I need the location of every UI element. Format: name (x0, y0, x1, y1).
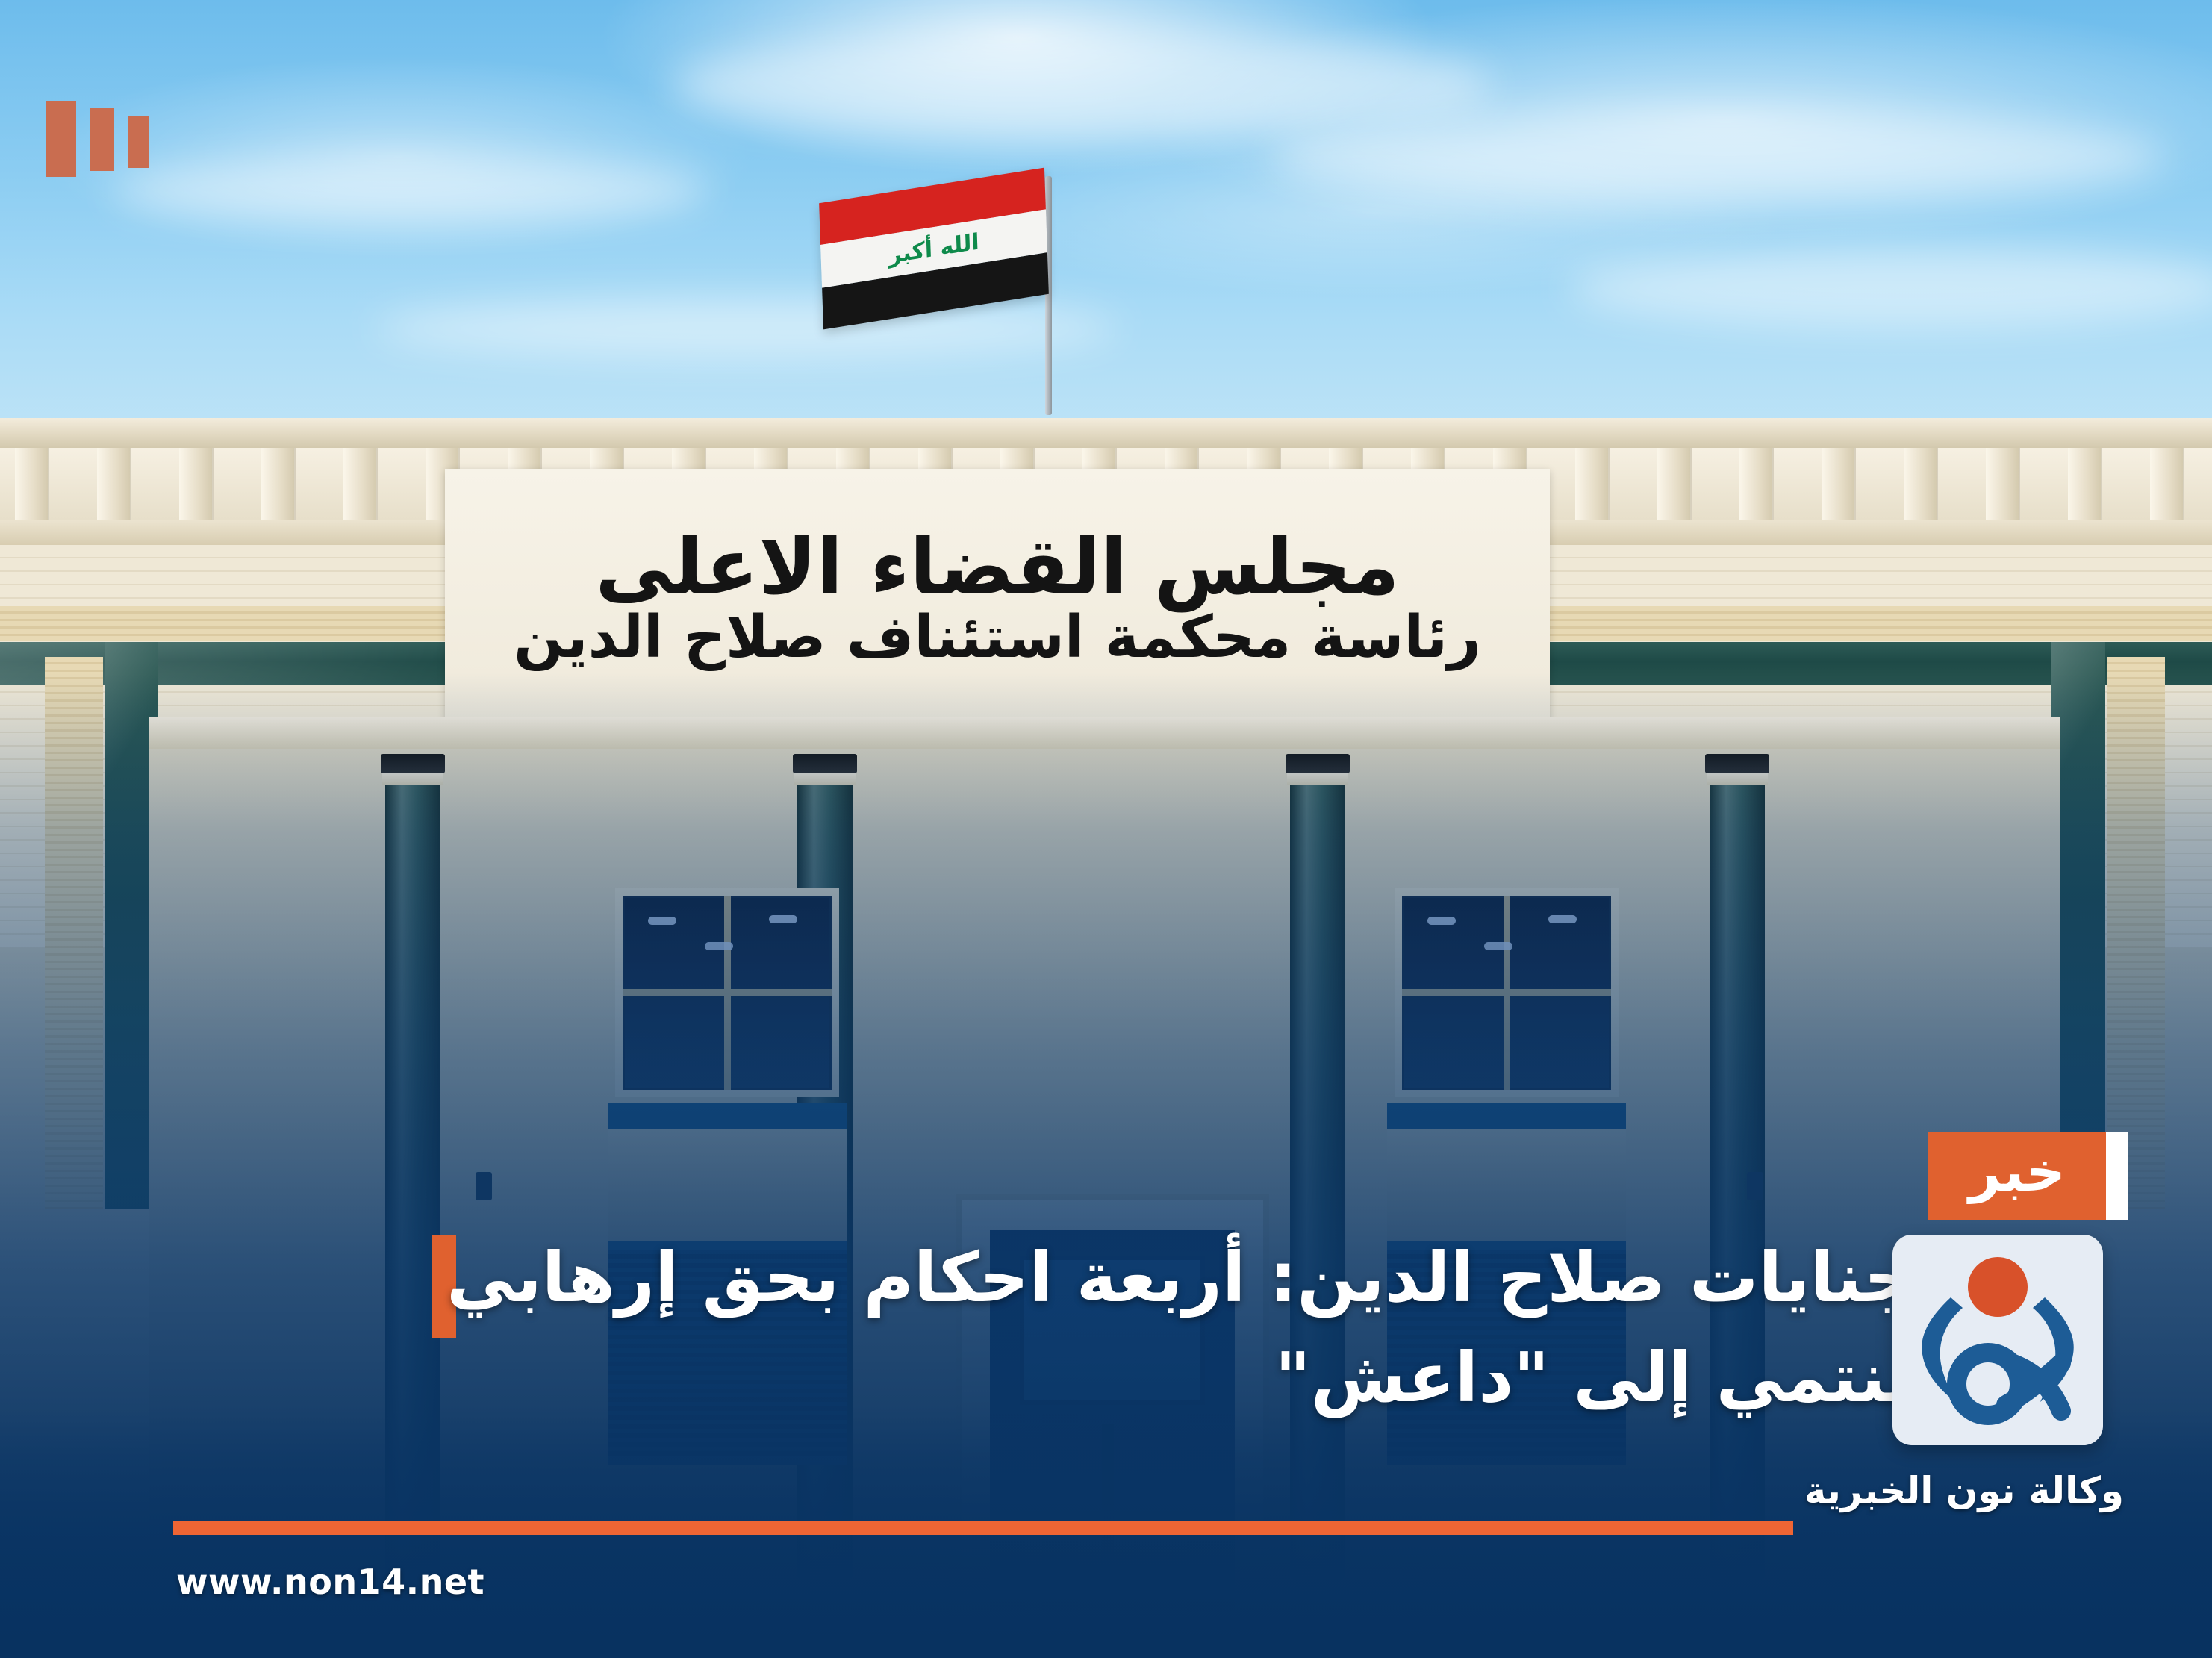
website-url[interactable]: www.non14.net (176, 1562, 485, 1602)
headline-line-1: جنايات صلاح الدين: أربعة احكام بحق إرهاب… (127, 1228, 1913, 1328)
news-badge: خبر (1928, 1132, 2128, 1220)
agency-name: وكالة نون الخبرية (1804, 1469, 2124, 1512)
headline: جنايات صلاح الدين: أربعة احكام بحق إرهاب… (127, 1228, 1913, 1429)
news-badge-label: خبر (1928, 1132, 2106, 1220)
logo-arms-icon (1892, 1235, 2103, 1445)
news-card: الله أكبر (0, 0, 2212, 1658)
headline-line-2: ينتمي إلى "داعش" (127, 1328, 1913, 1428)
iraqi-flag: الله أكبر (821, 176, 1135, 415)
building-sign-line-2: رئاسة محكمة استئناف صلاح الدين (514, 605, 1481, 670)
three-bar-watermark-icon (46, 101, 149, 177)
news-badge-tick (2106, 1132, 2128, 1220)
building-sign-line-1: مجلس القضاء الاعلى (595, 528, 1399, 605)
noon-agency-logo-icon (1892, 1235, 2103, 1445)
footer-rule (173, 1521, 1793, 1535)
